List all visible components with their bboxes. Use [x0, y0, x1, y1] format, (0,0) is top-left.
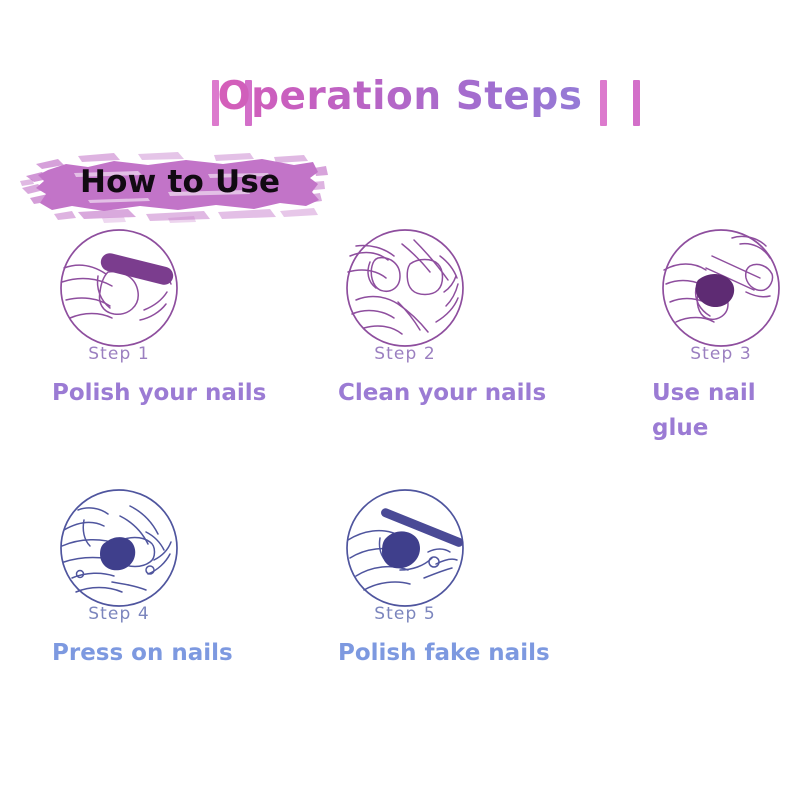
wipe-cloth-on-nails-icon: [340, 226, 470, 356]
step-card-5[interactable]: Step 5 Polish fake nails: [332, 486, 632, 616]
step-5-label: Step 5: [332, 604, 478, 624]
page-title: Operation Steps: [0, 74, 800, 119]
nail-file-on-finger-icon: [54, 226, 184, 356]
press-fake-nail-icon: [54, 486, 184, 616]
step-2-caption: Clean your nails: [338, 376, 578, 411]
step-2-illustration: [340, 226, 470, 356]
title-decoration-right: [600, 80, 640, 130]
step-3-illustration: [656, 226, 786, 356]
step-card-4[interactable]: Step 4 Press on nails: [46, 486, 346, 616]
step-row-bottom: Step 4 Press on nails: [0, 486, 800, 746]
step-2-label: Step 2: [332, 344, 478, 364]
step-3-label: Step 3: [646, 344, 796, 364]
step-5-illustration: [340, 486, 470, 616]
glue-brush-on-nail-icon: [656, 226, 786, 356]
how-to-use-banner: How to Use: [18, 148, 328, 226]
step-4-label: Step 4: [46, 604, 192, 624]
step-card-2[interactable]: Step 2 Clean your nails: [332, 226, 632, 356]
step-1-caption: Polish your nails: [52, 376, 292, 411]
step-card-1[interactable]: Step 1 Polish your nails: [46, 226, 346, 356]
step-3-caption: Use nail glue: [652, 376, 800, 446]
title-bar-icon: [600, 80, 607, 126]
title-bar-icon: [633, 80, 640, 126]
step-5-caption: Polish fake nails: [338, 636, 578, 671]
banner-label: How to Use: [80, 164, 280, 200]
step-4-caption: Press on nails: [52, 636, 292, 671]
file-fake-nail-icon: [340, 486, 470, 616]
step-1-illustration: [54, 226, 184, 356]
step-row-top: Step 1 Polish your nails: [0, 226, 800, 486]
step-1-label: Step 1: [46, 344, 192, 364]
steps-grid: Step 1 Polish your nails: [0, 226, 800, 746]
step-card-3[interactable]: Step 3 Use nail glue: [646, 226, 800, 356]
step-4-illustration: [54, 486, 184, 616]
title-block: Operation Steps: [0, 34, 800, 102]
